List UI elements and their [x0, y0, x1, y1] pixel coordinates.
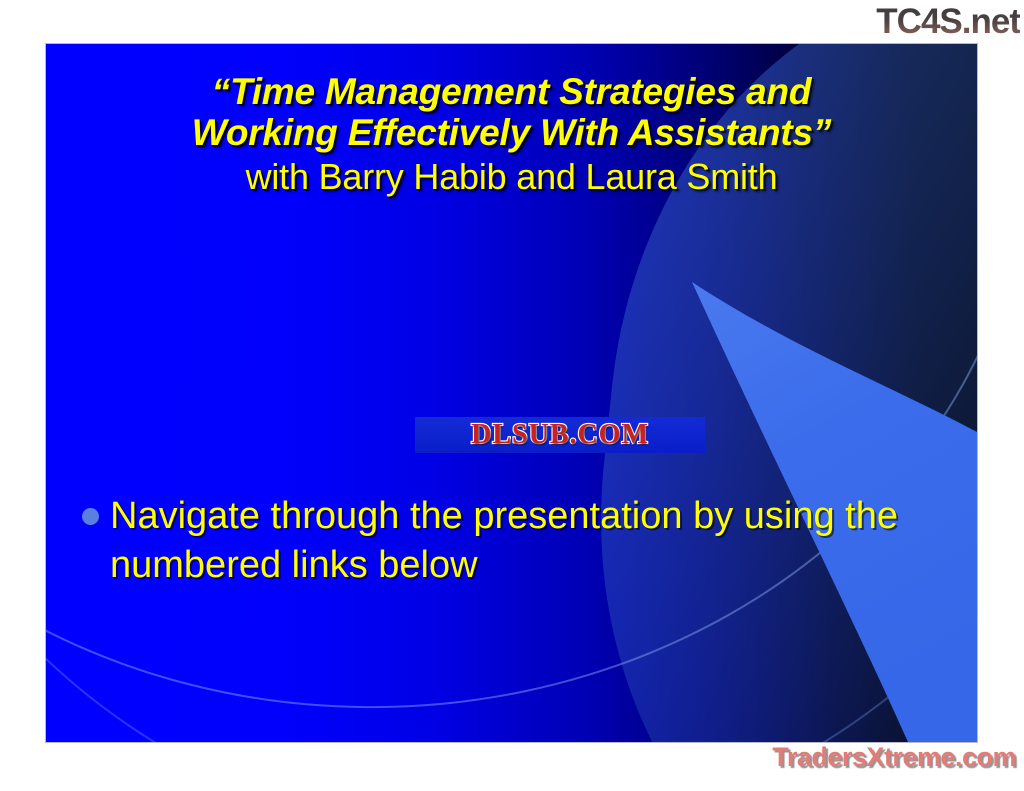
- dlsub-logo[interactable]: DLSUB.COM: [415, 417, 705, 453]
- presentation-slide[interactable]: “Time Management Strategies and Working …: [46, 44, 977, 742]
- page-canvas: “Time Management Strategies and Working …: [0, 0, 1024, 791]
- bullet-list-item: Navigate through the presentation by usi…: [82, 492, 912, 591]
- bullet-item-text: Navigate through the presentation by usi…: [110, 492, 912, 591]
- title-line-2: Working Effectively With Assistants”: [46, 113, 977, 154]
- tradersxtreme-watermark: TradersXtreme.com: [772, 742, 1016, 773]
- title-line-1: “Time Management Strategies and: [46, 72, 977, 113]
- tc4s-watermark: TC4S.net: [876, 2, 1020, 42]
- presenters-line: with Barry Habib and Laura Smith: [46, 157, 977, 197]
- bullet-dot-icon: [82, 508, 99, 525]
- dlsub-logo-text: DLSUB.COM: [471, 419, 649, 451]
- slide-title: “Time Management Strategies and Working …: [46, 72, 977, 197]
